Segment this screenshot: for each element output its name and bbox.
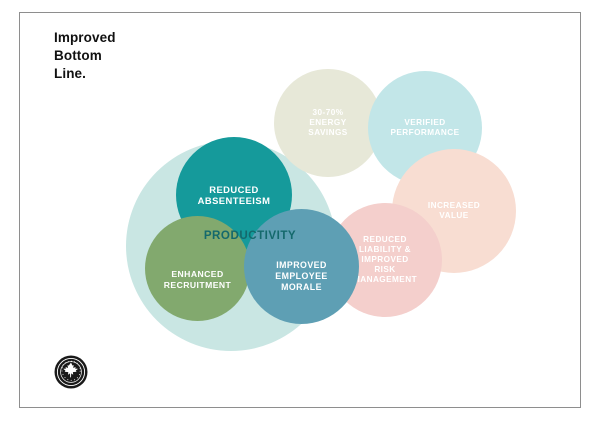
bubble-improved-employee-morale-label: IMPROVED EMPLOYEE MORALE bbox=[244, 240, 359, 292]
maple-leaf-seal-icon bbox=[53, 354, 89, 390]
bubble-reduced-absenteeism-label: REDUCED ABSENTEEISM bbox=[176, 184, 292, 207]
slide-page: Improved Bottom Line. 30-70% ENERGY SAVI… bbox=[0, 0, 600, 424]
bubble-enhanced-recruitment-label: ENHANCED RECRUITMENT bbox=[145, 247, 250, 290]
venn-diagram: 30-70% ENERGY SAVINGS VERIFIED PERFORMAN… bbox=[20, 13, 582, 409]
slide-frame: Improved Bottom Line. 30-70% ENERGY SAVI… bbox=[19, 12, 581, 408]
productivity-label: PRODUCTIVITY bbox=[170, 229, 330, 242]
bubble-improved-employee-morale[interactable]: IMPROVED EMPLOYEE MORALE bbox=[244, 209, 359, 324]
bubble-energy-savings-label: 30-70% ENERGY SAVINGS bbox=[274, 108, 382, 138]
bubble-verified-performance-label: VERIFIED PERFORMANCE bbox=[368, 118, 482, 138]
bubble-energy-savings[interactable]: 30-70% ENERGY SAVINGS bbox=[274, 69, 382, 177]
